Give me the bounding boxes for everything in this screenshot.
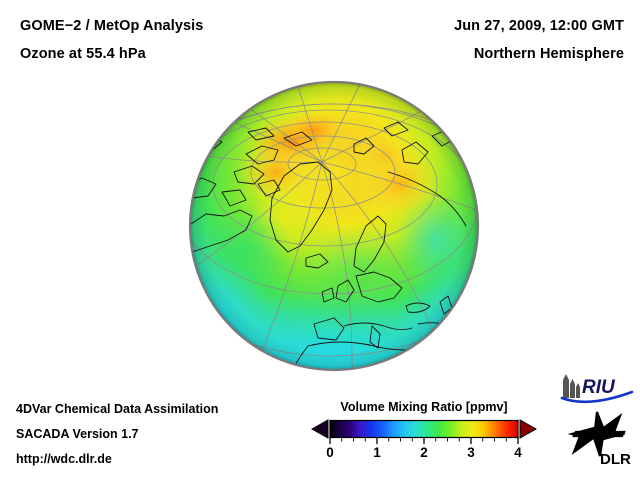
colorbar-tick-4: 4 (514, 445, 522, 460)
colorbar-tick-0: 0 (326, 445, 334, 460)
colorbar: Volume Mixing Ratio [ppmv] (310, 400, 538, 472)
hemisphere-label: Northern Hemisphere (474, 46, 624, 62)
colorbar-tick-3: 3 (467, 445, 475, 460)
colorbar-tick-labels: 0 1 2 3 4 (310, 445, 538, 467)
ozone-analysis-figure: GOME−2 / MetOp Analysis Ozone at 55.4 hP… (0, 0, 640, 480)
colorbar-title: Volume Mixing Ratio [ppmv] (310, 400, 538, 414)
colorbar-tick-1: 1 (373, 445, 381, 460)
riu-logo[interactable]: RIU (558, 372, 636, 406)
colorbar-major-ticks (330, 438, 518, 445)
dlr-emblem-icon (572, 412, 624, 456)
analysis-datetime: Jun 27, 2009, 12:00 GMT (454, 18, 624, 34)
credit-line-1: 4DVar Chemical Data Assimilation (16, 402, 218, 416)
page-title: GOME−2 / MetOp Analysis (20, 18, 203, 34)
credit-line-3[interactable]: http://wdc.dlr.de (16, 452, 112, 466)
colorbar-gradient (310, 418, 538, 448)
credit-line-2: SACADA Version 1.7 (16, 427, 139, 441)
colorbar-arrow-low (312, 420, 328, 438)
globe-map (188, 80, 480, 372)
dlr-logo[interactable]: DLR (564, 410, 634, 468)
dlr-wordmark: DLR (600, 451, 631, 468)
page-subtitle: Ozone at 55.4 hPa (20, 46, 146, 62)
riu-wordmark: RIU (582, 377, 616, 398)
colorbar-arrow-high (520, 420, 536, 438)
colorbar-tick-2: 2 (420, 445, 428, 460)
riu-towers-icon (563, 374, 580, 398)
